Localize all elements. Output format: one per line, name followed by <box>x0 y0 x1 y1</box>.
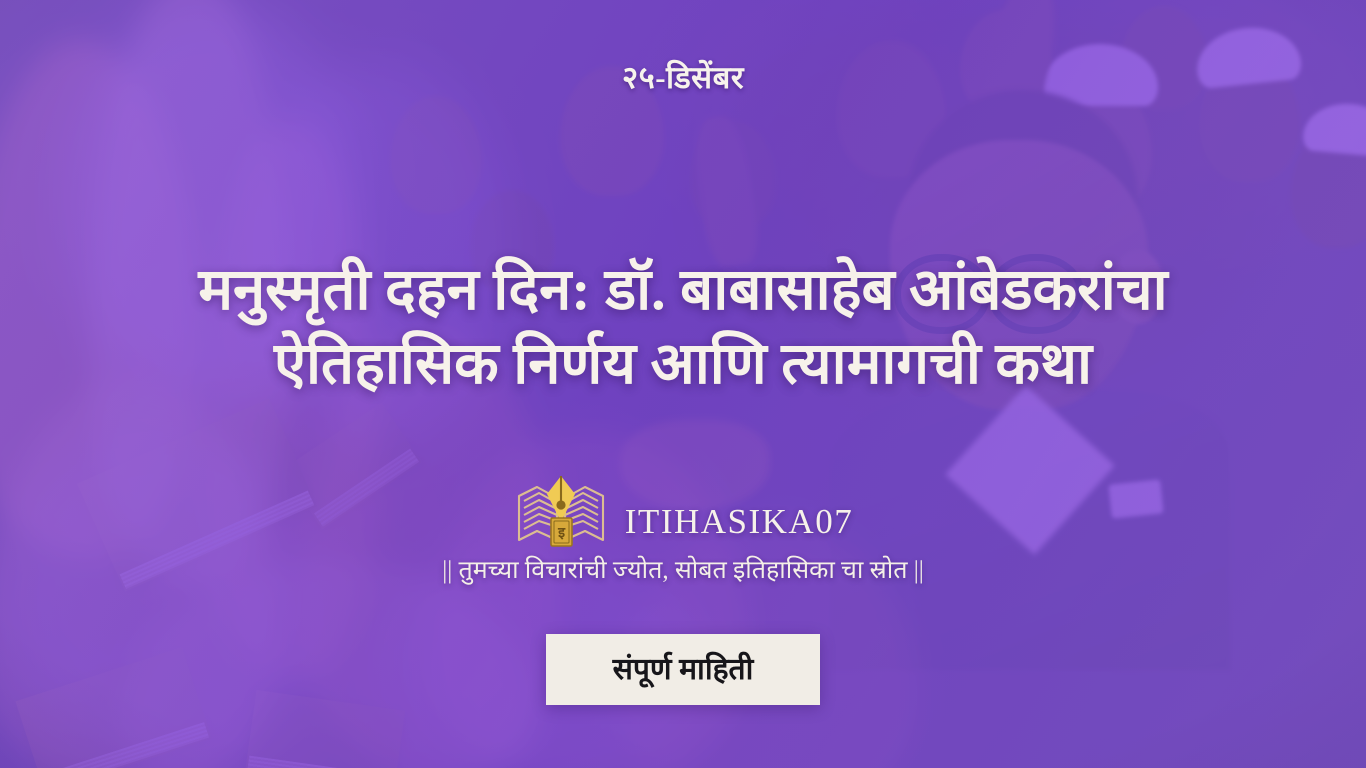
svg-text:इ: इ <box>557 525 566 541</box>
brand-name: ITIHASIKA07 <box>625 488 853 539</box>
date-label: २५-डिसेंबर <box>622 62 744 93</box>
brand-lockup: इ ITIHASIKA07 <box>513 474 853 552</box>
brand-tagline: || तुमच्या विचारांची ज्योत, सोबत इतिहासि… <box>442 556 924 586</box>
page-title: मनुस्मृती दहन दिन: डॉ. बाबासाहेब आंबेडकर… <box>68 253 1298 401</box>
headline-line-1: मनुस्मृती दहन दिन: डॉ. बाबासाहेब आंबेडकर… <box>68 253 1298 327</box>
headline-line-2: ऐतिहासिक निर्णय आणि त्यामागची कथा <box>68 327 1298 401</box>
full-information-button[interactable]: संपूर्ण माहिती <box>546 634 820 705</box>
promo-banner: २५-डिसेंबर मनुस्मृती दहन दिन: डॉ. बाबासा… <box>0 0 1366 768</box>
open-book-pen-nib-logo-icon: इ <box>513 474 609 552</box>
banner-content: २५-डिसेंबर मनुस्मृती दहन दिन: डॉ. बाबासा… <box>0 0 1366 768</box>
cta-container: संपूर्ण माहिती <box>546 634 820 705</box>
